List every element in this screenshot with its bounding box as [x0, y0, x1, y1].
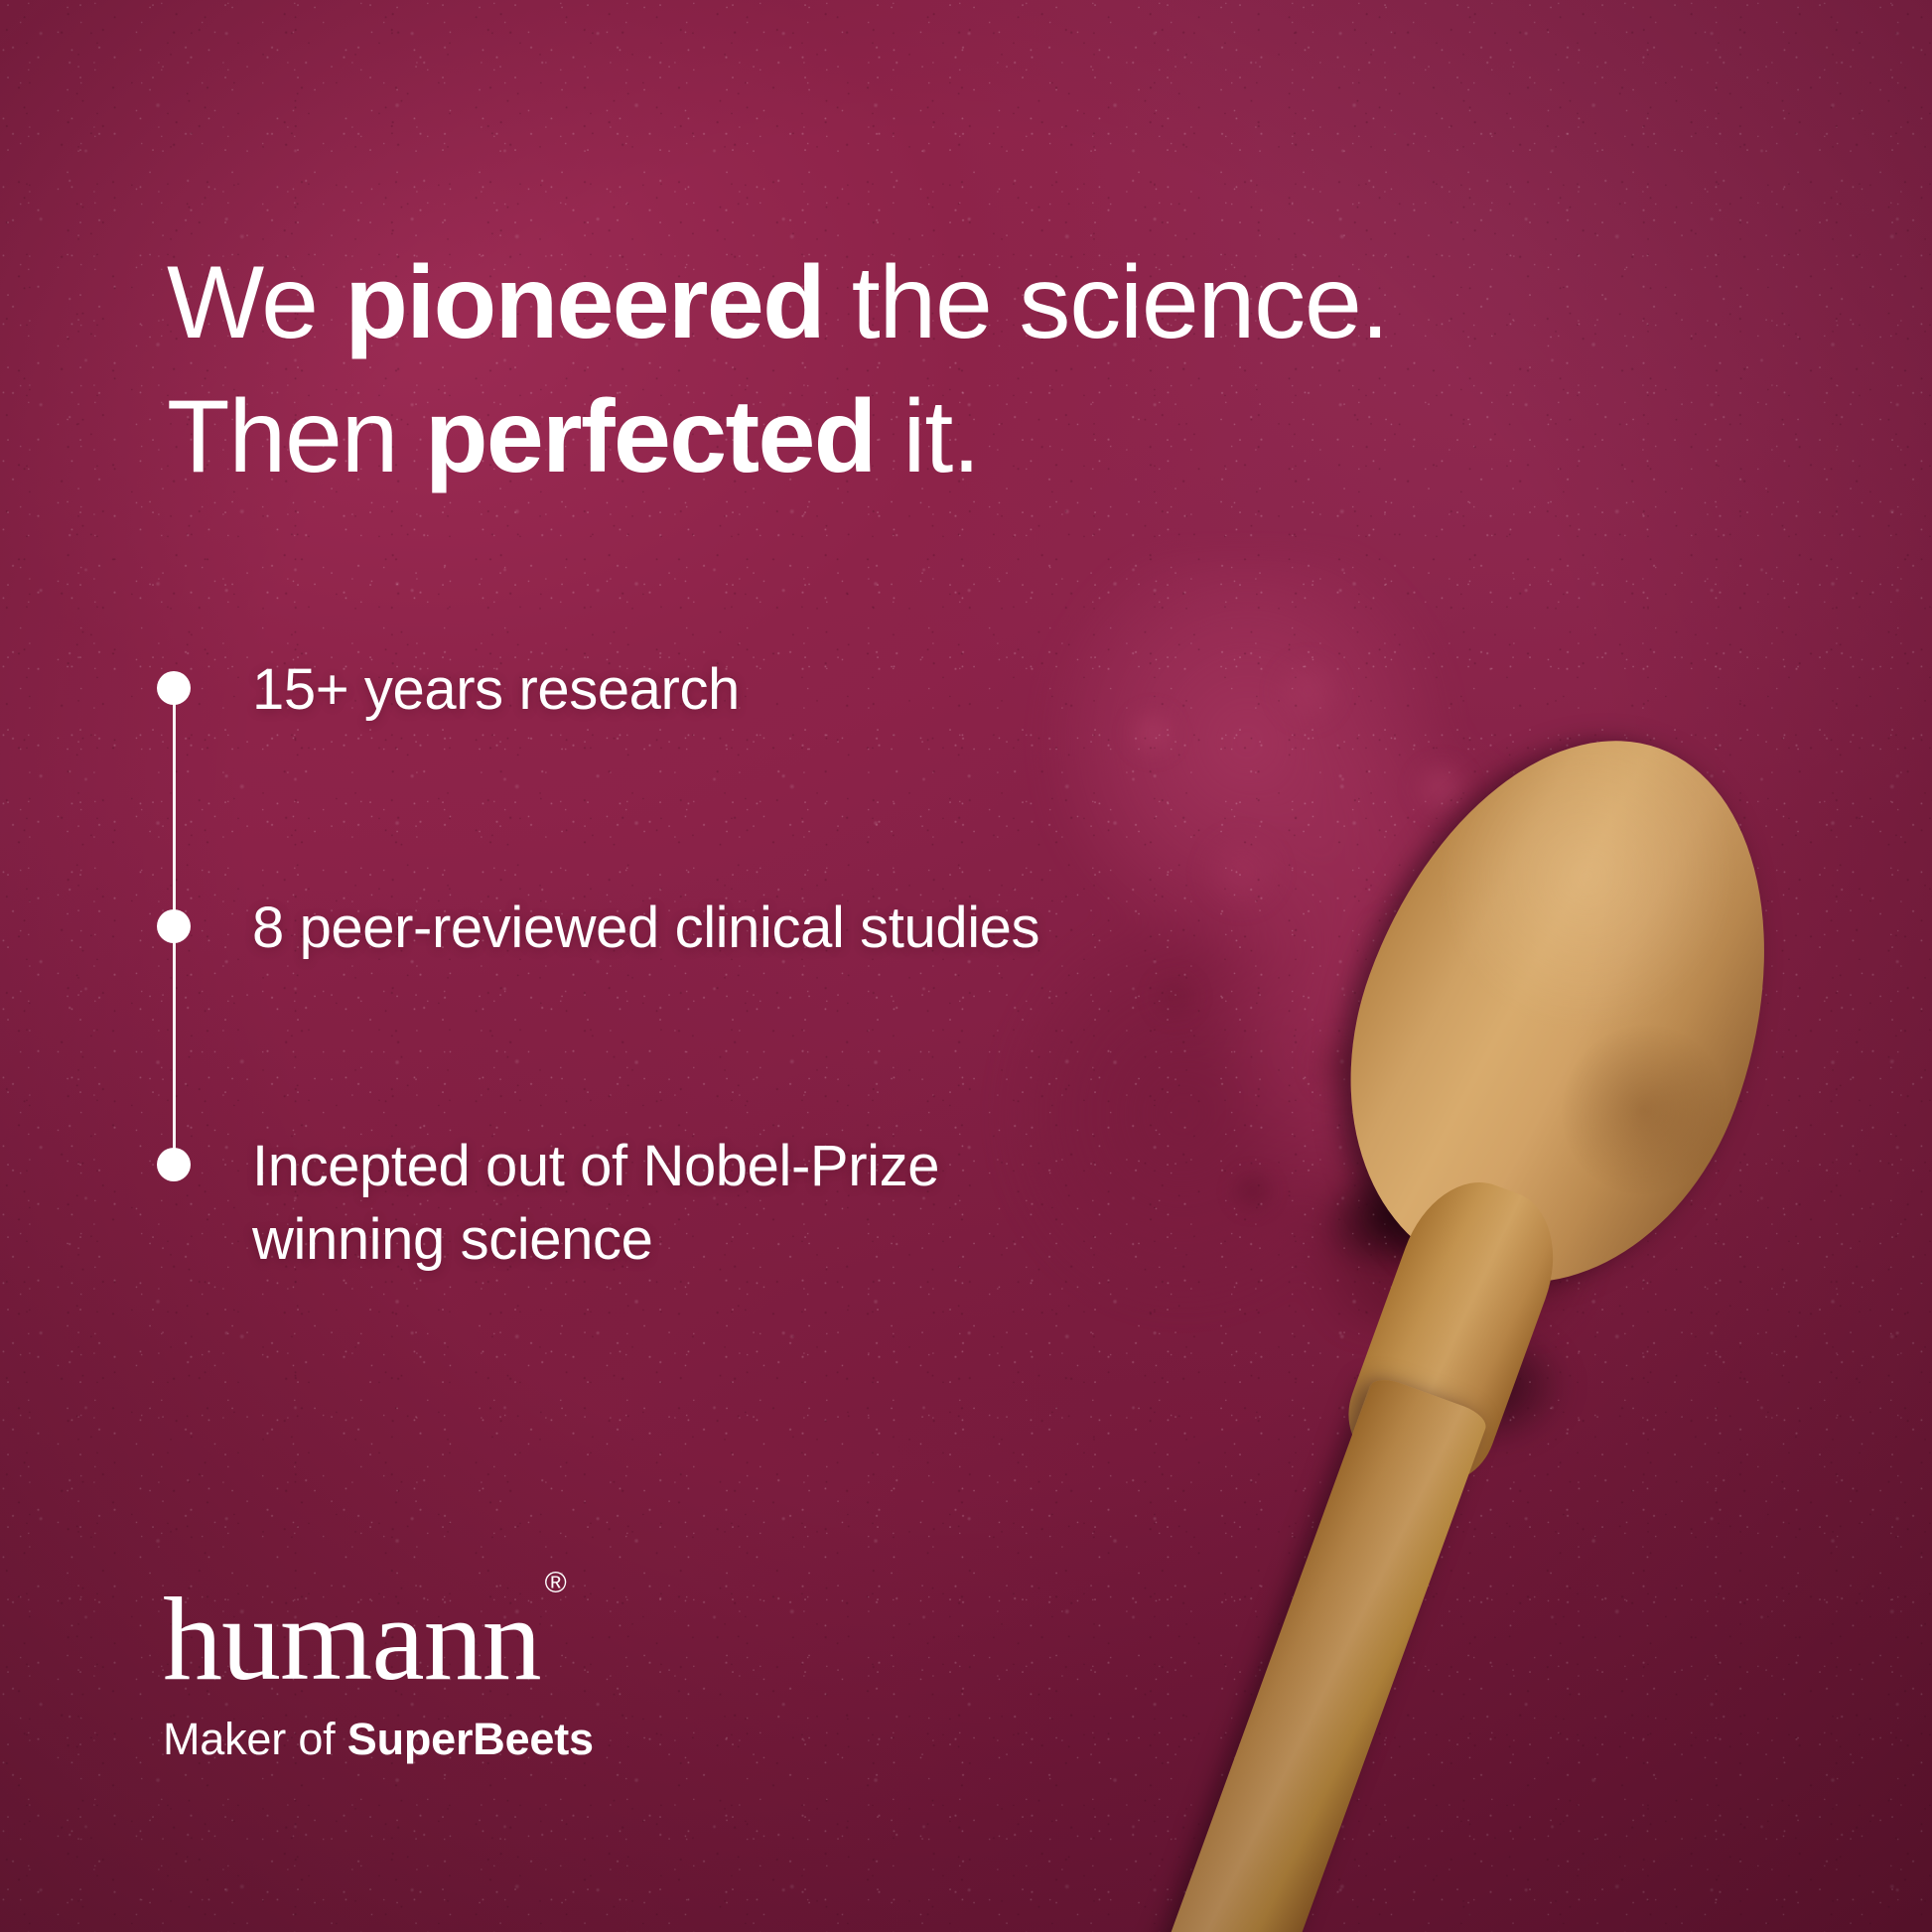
bullet-dot-icon: [157, 671, 191, 705]
headline-line2-pre: Then: [167, 379, 425, 494]
bullet-dot-icon: [157, 1148, 191, 1181]
brand-tagline-pre: Maker of: [163, 1714, 347, 1764]
humann-logo: humann®: [163, 1585, 563, 1694]
bullet-label: 15+ years research: [252, 653, 740, 727]
humann-wordmark-text: humann: [163, 1573, 541, 1705]
bullet-dot-icon: [157, 909, 191, 943]
headline-line2-bold: perfected: [425, 379, 876, 494]
marketing-card: We pioneered the science.Then perfected …: [0, 0, 1932, 1932]
list-item: 15+ years research: [139, 653, 740, 727]
list-item: Incepted out of Nobel-Prize winning scie…: [139, 1130, 939, 1277]
bullet-label: Incepted out of Nobel-Prize winning scie…: [252, 1130, 939, 1277]
registered-trademark-icon: ®: [545, 1567, 567, 1599]
headline-line2-post: it.: [876, 379, 980, 494]
bullet-label: 8 peer-reviewed clinical studies: [252, 892, 1039, 965]
list-item: 8 peer-reviewed clinical studies: [139, 892, 1039, 965]
headline: We pioneered the science.Then perfected …: [167, 236, 1815, 504]
brand-tagline-bold: SuperBeets: [347, 1714, 594, 1764]
brand-lockup: humann® Maker of SuperBeets: [163, 1585, 594, 1765]
headline-line1-bold: pioneered: [345, 245, 824, 360]
headline-line1-post: the science.: [824, 245, 1388, 360]
brand-tagline: Maker of SuperBeets: [163, 1714, 594, 1765]
headline-line1-pre: We: [167, 245, 345, 360]
